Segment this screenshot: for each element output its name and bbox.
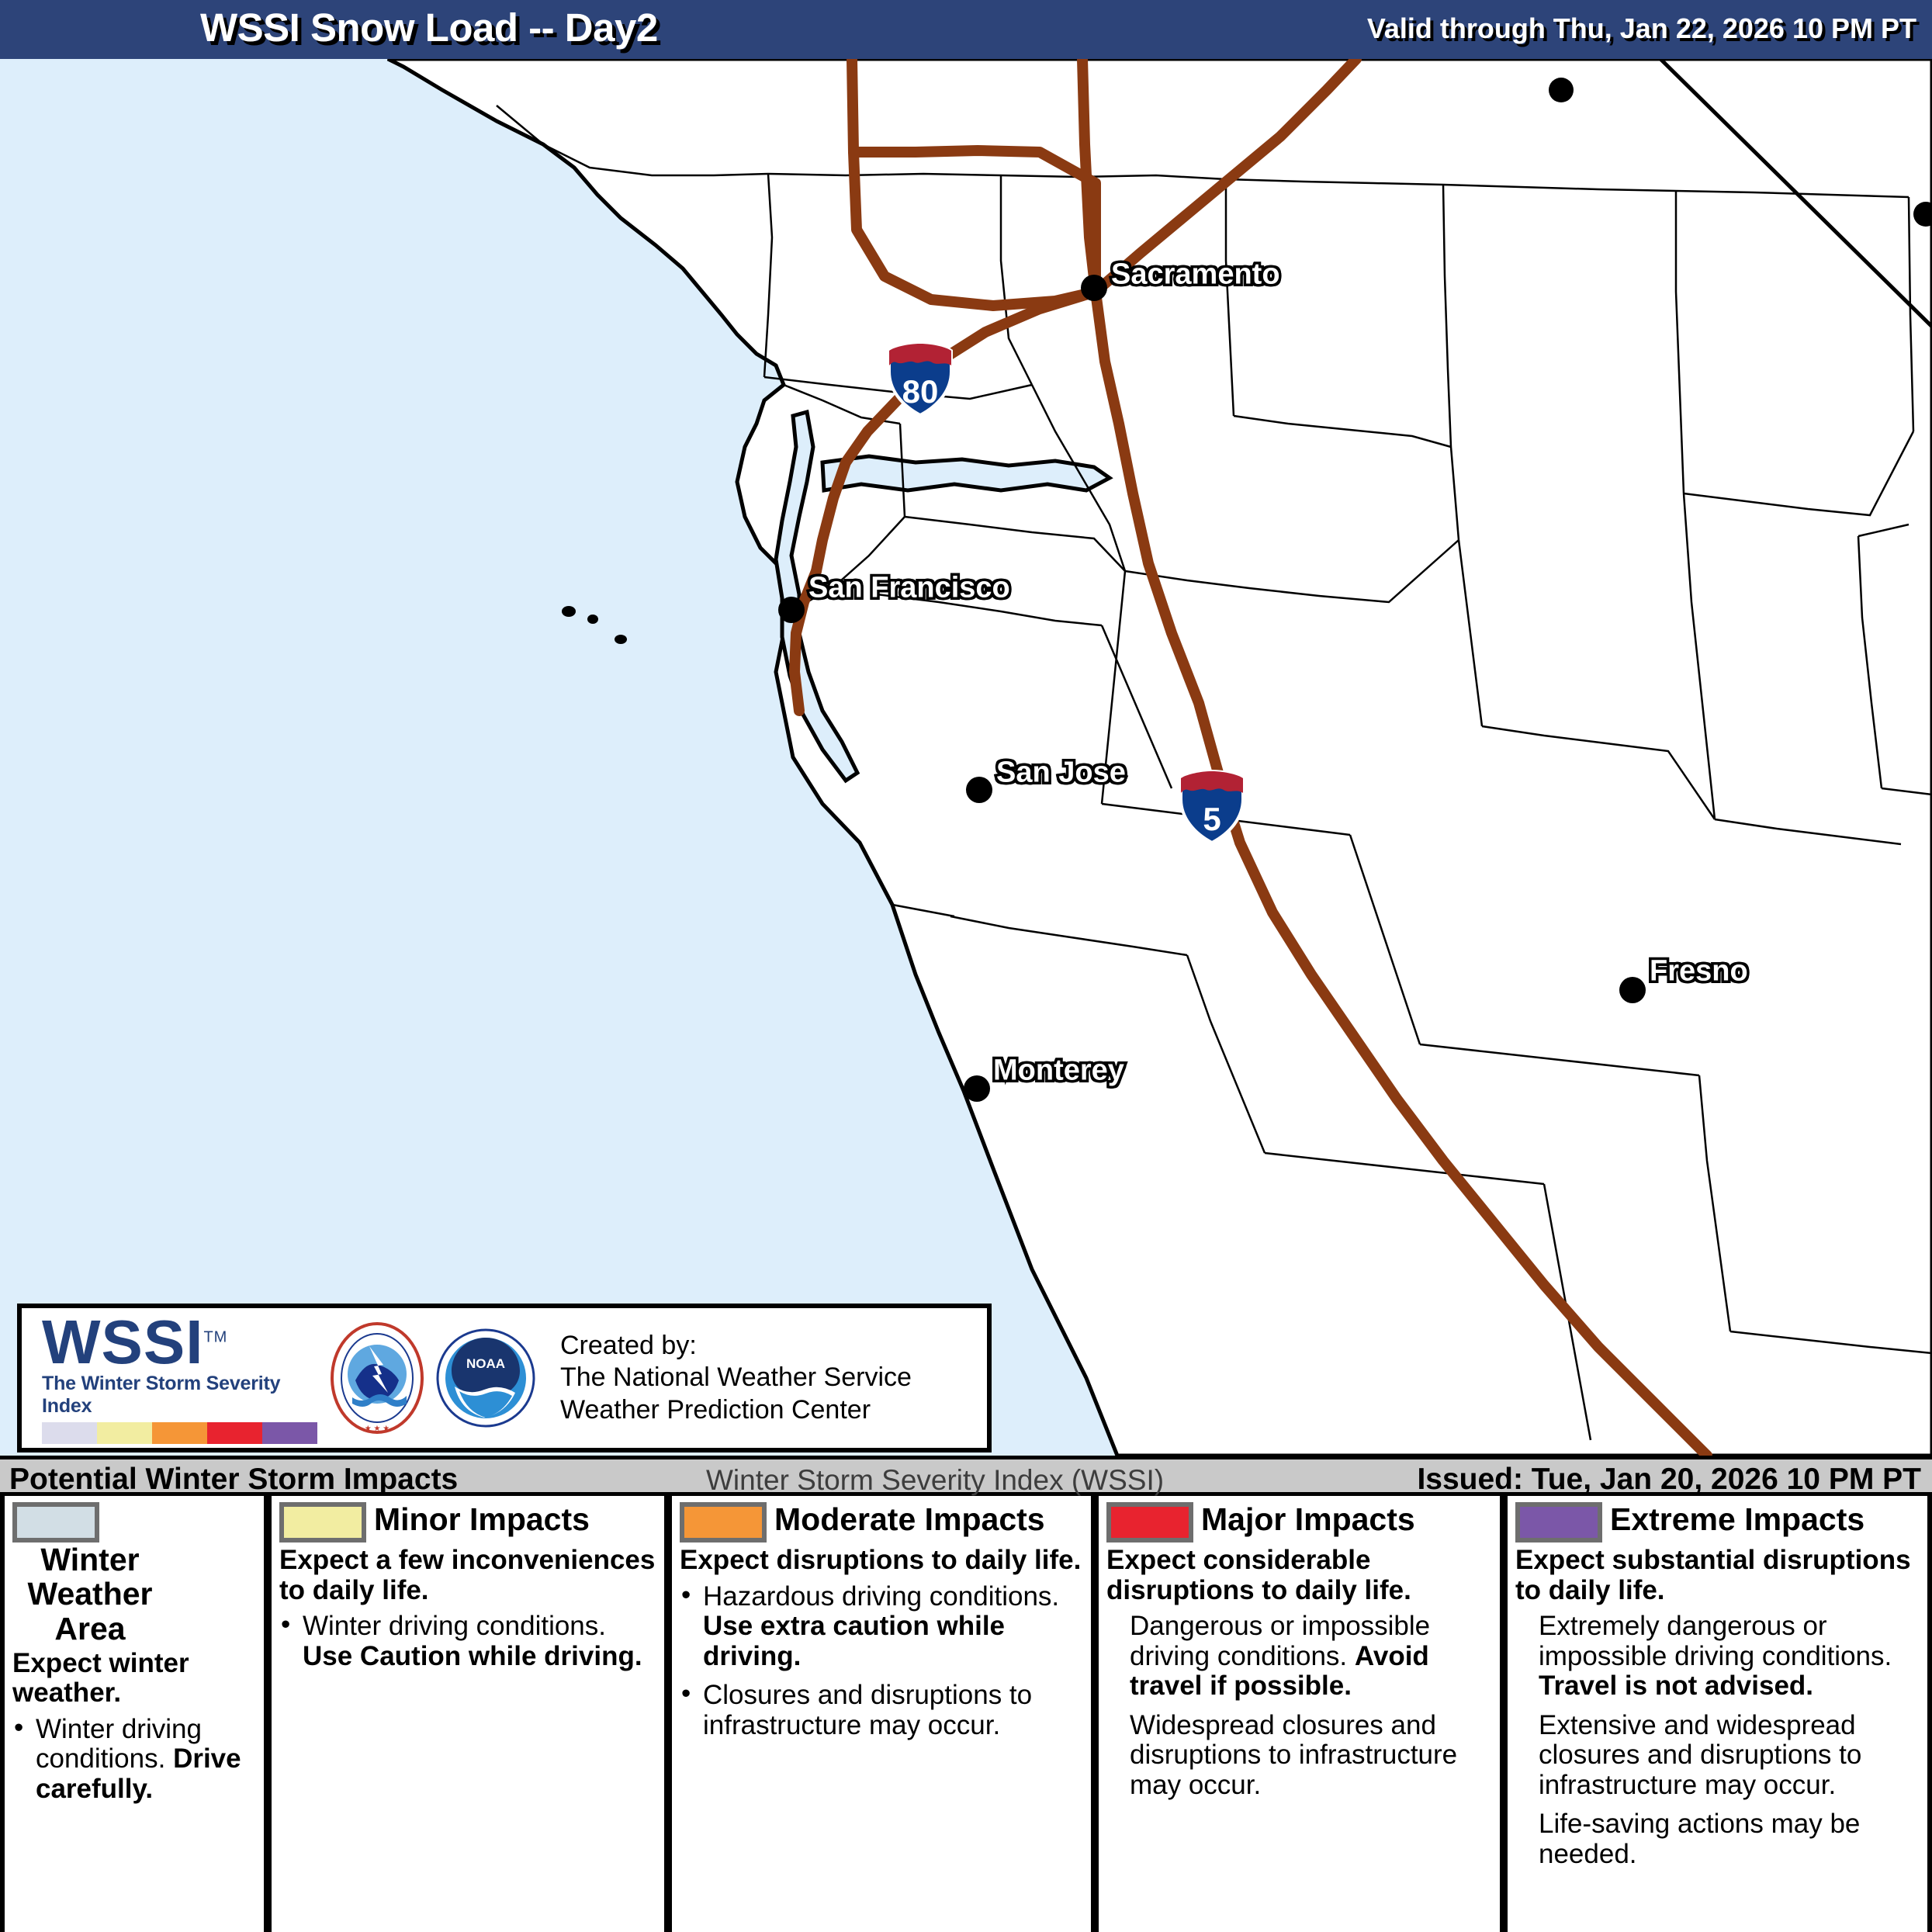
legend-lead-moderate-impacts: Expect disruptions to daily life. bbox=[680, 1546, 1083, 1576]
city-label-fresno: Fresno bbox=[1650, 955, 1748, 989]
legend-bullet: Winter driving conditions. Use Caution w… bbox=[279, 1612, 656, 1671]
credit-line-2: The National Weather Service bbox=[560, 1362, 912, 1394]
city-dot-sacramento bbox=[1081, 275, 1107, 301]
legend-column-winter-weather-area[interactable]: Winter Weather Area Expect winter weathe… bbox=[0, 1496, 268, 1932]
legend-bullet: Life-saving actions may be needed. bbox=[1515, 1809, 1920, 1869]
legend-title-moderate-impacts: Moderate Impacts bbox=[774, 1502, 1045, 1536]
page-header: WSSI Snow Load -- Day2 Valid through Thu… bbox=[0, 0, 1932, 59]
legend-bullet: Extremely dangerous or impossible drivin… bbox=[1515, 1612, 1920, 1702]
legend-header: Extreme Impacts bbox=[1515, 1502, 1920, 1542]
status-wssi-label: Winter Storm Severity Index (WSSI) bbox=[706, 1464, 1164, 1497]
interstate-shield-80: 80 bbox=[887, 342, 954, 417]
legend-title-winter-weather-area: Winter Weather Area bbox=[12, 1542, 168, 1646]
noaa-seal: NOAA bbox=[431, 1320, 540, 1436]
legend-bullet: Extensive and widespread closures and di… bbox=[1515, 1711, 1920, 1801]
status-potential-impacts-label: Potential Winter Storm Impacts bbox=[9, 1463, 458, 1497]
creator-credit: Created by: The National Weather Service… bbox=[560, 1330, 912, 1426]
legend-bullet: Dangerous or impossible driving conditio… bbox=[1106, 1612, 1492, 1702]
credit-line-1: Created by: bbox=[560, 1330, 912, 1362]
legend-lead-major-impacts: Expect considerable disruptions to daily… bbox=[1106, 1546, 1492, 1605]
city-dot-monterey bbox=[964, 1075, 990, 1102]
valid-through-label: Valid through Thu, Jan 22, 2026 10 PM PT bbox=[1367, 12, 1916, 45]
legend-header: Major Impacts bbox=[1106, 1502, 1492, 1542]
interstate-shield-5: 5 bbox=[1179, 770, 1245, 844]
legend-swatch-extreme-impacts bbox=[1515, 1502, 1602, 1542]
svg-text:NOAA: NOAA bbox=[466, 1356, 505, 1371]
legend-title-major-impacts: Major Impacts bbox=[1201, 1502, 1415, 1536]
legend-column-minor-impacts[interactable]: Minor Impacts Expect a few inconvenience… bbox=[268, 1496, 668, 1932]
city-label-sacramento: Sacramento bbox=[1111, 258, 1280, 292]
credit-line-3: Weather Prediction Center bbox=[560, 1394, 912, 1426]
shield-number-80: 80 bbox=[887, 373, 954, 410]
city-dot-san-jose bbox=[966, 777, 992, 803]
wssi-color-bar bbox=[42, 1422, 317, 1444]
wssi-bar-minor bbox=[97, 1422, 152, 1444]
page-title: WSSI Snow Load -- Day2 bbox=[200, 5, 658, 50]
legend-bullets-moderate-impacts: Hazardous driving conditions. Use extra … bbox=[680, 1582, 1083, 1741]
legend-column-major-impacts[interactable]: Major Impacts Expect considerable disrup… bbox=[1095, 1496, 1504, 1932]
legend-bullets-minor-impacts: Winter driving conditions. Use Caution w… bbox=[279, 1612, 656, 1671]
wssi-logo-box: WSSITM The Winter Storm Severity Index ★… bbox=[17, 1304, 992, 1452]
wssi-bar-extreme bbox=[262, 1422, 317, 1444]
city-label-san-francisco: San Francisco bbox=[808, 572, 1010, 605]
city-dot-fresno bbox=[1619, 977, 1646, 1003]
legend-bullet: Closures and disruptions to infrastructu… bbox=[680, 1681, 1083, 1740]
svg-text:★ ★ ★: ★ ★ ★ bbox=[365, 1425, 390, 1433]
legend-bullets-extreme-impacts: Extremely dangerous or impossible drivin… bbox=[1515, 1612, 1920, 1869]
legend-swatch-minor-impacts bbox=[279, 1502, 366, 1542]
legend-header: Moderate Impacts bbox=[680, 1502, 1083, 1542]
wssi-wordmark-text: WSSI bbox=[42, 1307, 203, 1376]
legend-column-moderate-impacts[interactable]: Moderate Impacts Expect disruptions to d… bbox=[668, 1496, 1095, 1932]
city-label-monterey: Monterey bbox=[993, 1054, 1124, 1088]
legend-lead-minor-impacts: Expect a few inconveniences to daily lif… bbox=[279, 1546, 656, 1605]
city-label-san-jose: San Jose bbox=[996, 757, 1126, 790]
legend-lead-winter-weather-area: Expect winter weather. bbox=[12, 1649, 256, 1709]
legend-bullets-winter-weather-area: Winter driving conditions. Drive careful… bbox=[12, 1715, 256, 1805]
legend-column-extreme-impacts[interactable]: Extreme Impacts Expect substantial disru… bbox=[1504, 1496, 1932, 1932]
legend-swatch-winter-weather-area bbox=[12, 1502, 99, 1542]
impact-legend: Winter Weather Area Expect winter weathe… bbox=[0, 1496, 1932, 1932]
city-dot-san-francisco bbox=[778, 597, 805, 623]
status-bar: Potential Winter Storm Impacts Winter St… bbox=[0, 1456, 1932, 1496]
national-weather-service-seal: ★ ★ ★ bbox=[323, 1320, 431, 1436]
weather-map[interactable]: Sacramento San Francisco San Jose Fresno… bbox=[0, 59, 1932, 1456]
legend-swatch-major-impacts bbox=[1106, 1502, 1193, 1542]
legend-bullet: Widespread closures and disruptions to i… bbox=[1106, 1711, 1492, 1801]
nws-seal-icon: ★ ★ ★ bbox=[323, 1320, 431, 1436]
legend-title-extreme-impacts: Extreme Impacts bbox=[1610, 1502, 1864, 1536]
legend-swatch-moderate-impacts bbox=[680, 1502, 767, 1542]
legend-bullet: Winter driving conditions. Drive careful… bbox=[12, 1715, 256, 1805]
offshore-islands bbox=[562, 606, 627, 644]
wssi-wordmark: WSSITM bbox=[42, 1313, 323, 1372]
legend-bullets-major-impacts: Dangerous or impossible driving conditio… bbox=[1106, 1612, 1492, 1800]
wssi-brand: WSSITM The Winter Storm Severity Index bbox=[22, 1313, 323, 1444]
legend-header: Winter Weather Area bbox=[12, 1502, 256, 1646]
shield-number-5: 5 bbox=[1179, 801, 1245, 838]
legend-lead-extreme-impacts: Expect substantial disruptions to daily … bbox=[1515, 1546, 1920, 1605]
wssi-tm: TM bbox=[203, 1328, 227, 1345]
suisun-bay bbox=[822, 456, 1110, 490]
legend-header: Minor Impacts bbox=[279, 1502, 656, 1542]
wssi-bar-moderate bbox=[152, 1422, 207, 1444]
map-graphic bbox=[0, 59, 1932, 1456]
wssi-subtitle: The Winter Storm Severity Index bbox=[42, 1373, 323, 1418]
status-issued-label: Issued: Tue, Jan 20, 2026 10 PM PT bbox=[1417, 1463, 1921, 1497]
wssi-bar-winter bbox=[42, 1422, 97, 1444]
legend-bullet: Hazardous driving conditions. Use extra … bbox=[680, 1582, 1083, 1672]
wssi-bar-major bbox=[207, 1422, 262, 1444]
noaa-seal-icon: NOAA bbox=[431, 1320, 540, 1436]
legend-title-minor-impacts: Minor Impacts bbox=[374, 1502, 590, 1536]
